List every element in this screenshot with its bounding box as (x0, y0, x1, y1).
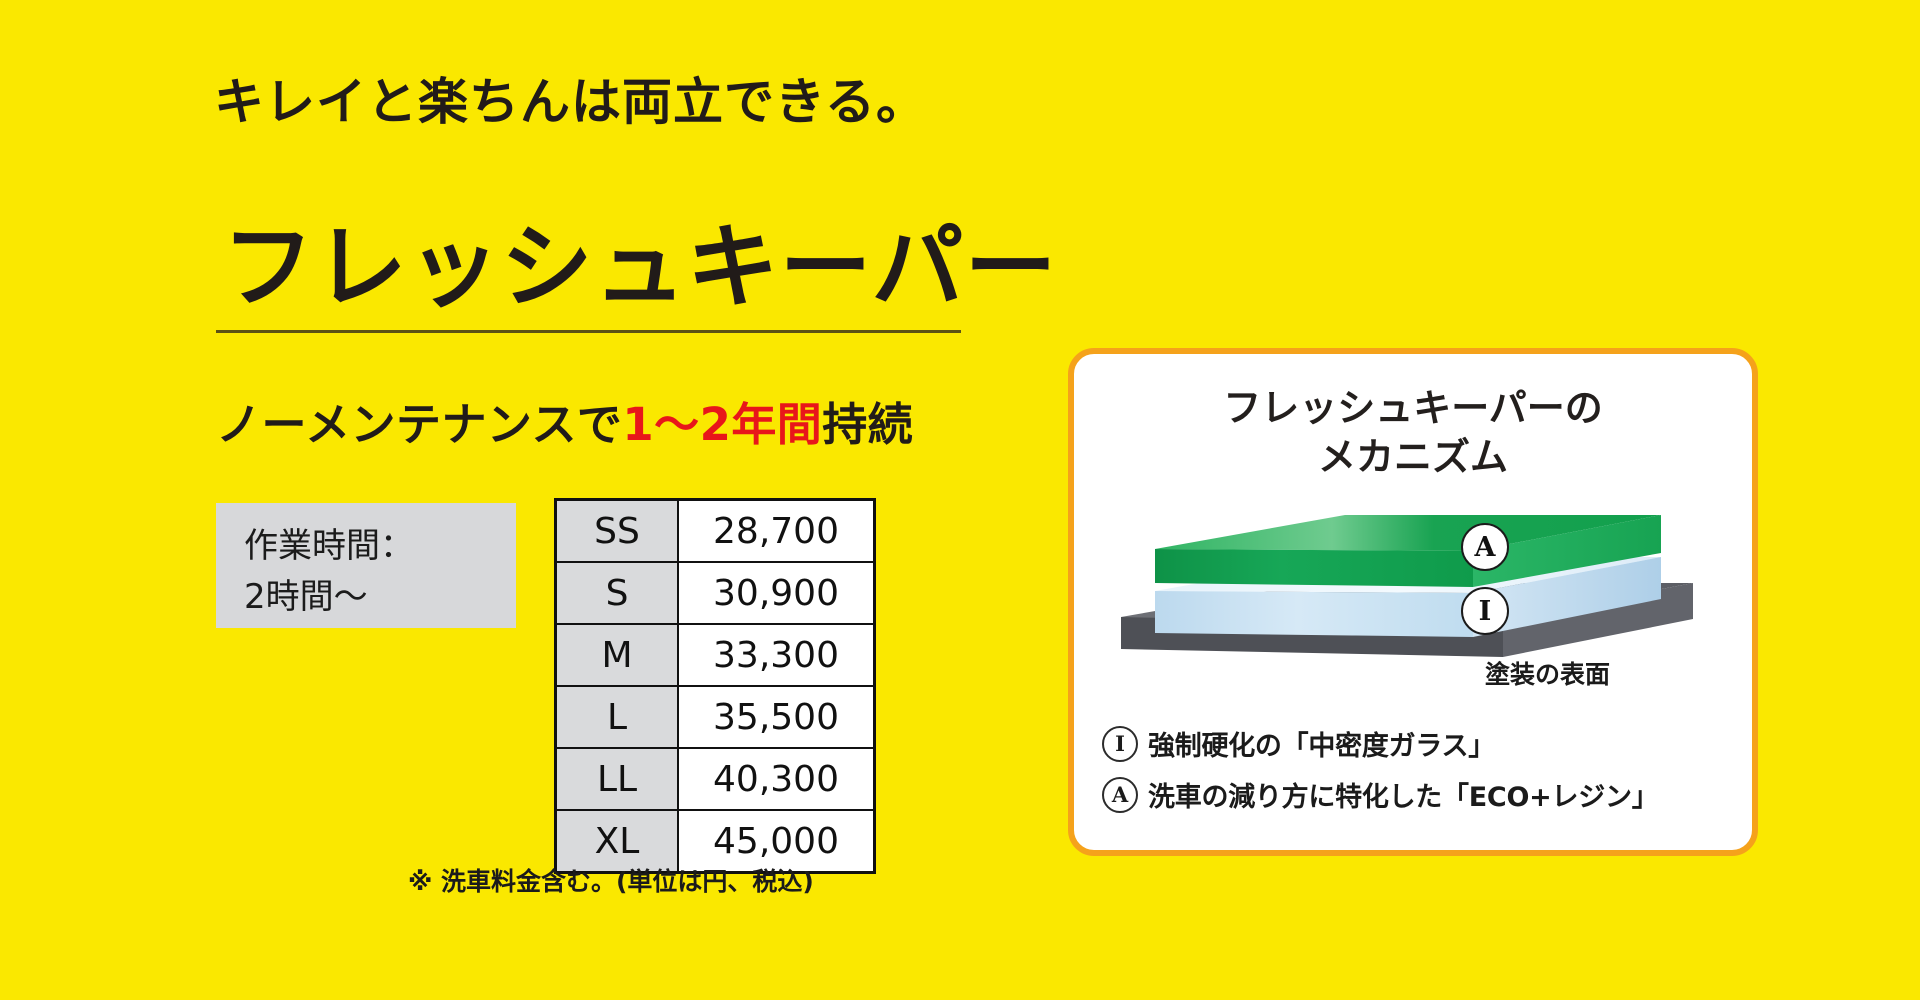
worktime-box: 作業時間： 2時間〜 (216, 503, 516, 628)
price-cell: 28,700 (678, 500, 875, 563)
worktime-label: 作業時間： (244, 521, 516, 572)
top-layer-front-face (1155, 549, 1473, 587)
subline-prefix: ノーメンテナンスで (216, 398, 622, 451)
page-title: フレッシュキーパー (222, 222, 1057, 314)
worktime-value: 2時間〜 (244, 572, 516, 623)
title-divider (216, 330, 961, 333)
hero-subline: ノーメンテナンスで1〜2年間持続 (216, 388, 913, 453)
paint-surface-label: 塗装の表面 (1485, 655, 1610, 691)
size-cell: L (556, 686, 679, 748)
layer-diagram: A I 塗装の表面 (1093, 487, 1733, 702)
table-row: S 30,900 (556, 562, 875, 624)
legend-mark-a-icon: A (1102, 777, 1138, 813)
layer-badge-i: I (1461, 587, 1509, 635)
price-cell: 35,500 (678, 686, 875, 748)
table-row: M 33,300 (556, 624, 875, 686)
middle-layer-front-face (1155, 591, 1473, 637)
layer-badge-a: A (1461, 523, 1509, 571)
mechanism-title: フレッシュキーパーの メカニズム (1074, 384, 1752, 481)
mechanism-card: フレッシュキーパーの メカニズム (1068, 348, 1758, 856)
legend-text-a: 洗車の減り方に特化した「ECO+レジン」 (1148, 775, 1658, 814)
price-table-note: ※ 洗車料金含む。(単位は円、税込) (408, 862, 814, 898)
price-cell: 33,300 (678, 624, 875, 686)
legend-mark-i-icon: I (1102, 726, 1138, 762)
layer-diagram-svg (1093, 487, 1733, 702)
table-row: LL 40,300 (556, 748, 875, 810)
subline-accent: 1〜2年間 (622, 398, 822, 451)
table-row: L 35,500 (556, 686, 875, 748)
mechanism-title-line1: フレッシュキーパーの (1074, 384, 1752, 433)
size-cell: S (556, 562, 679, 624)
hero-eyebrow: キレイと楽ちんは両立できる。 (214, 62, 927, 134)
legend-item-a: A 洗車の減り方に特化した「ECO+レジン」 (1102, 775, 1742, 814)
mechanism-legend: I 強制硬化の「中密度ガラス」 A 洗車の減り方に特化した「ECO+レジン」 (1102, 724, 1742, 826)
size-cell: LL (556, 748, 679, 810)
size-cell: SS (556, 500, 679, 563)
legend-item-i: I 強制硬化の「中密度ガラス」 (1102, 724, 1742, 763)
price-table-body: SS 28,700 S 30,900 M 33,300 L 35,500 LL … (556, 500, 875, 873)
legend-text-i: 強制硬化の「中密度ガラス」 (1148, 724, 1495, 763)
size-cell: M (556, 624, 679, 686)
price-cell: 40,300 (678, 748, 875, 810)
promo-left-column: キレイと楽ちんは両立できる。 フレッシュキーパー ノーメンテナンスで1〜2年間持… (0, 0, 1060, 1000)
mechanism-title-line2: メカニズム (1074, 433, 1752, 482)
price-table: SS 28,700 S 30,900 M 33,300 L 35,500 LL … (554, 498, 876, 874)
table-row: SS 28,700 (556, 500, 875, 563)
subline-suffix: 持続 (822, 398, 913, 451)
price-cell: 30,900 (678, 562, 875, 624)
